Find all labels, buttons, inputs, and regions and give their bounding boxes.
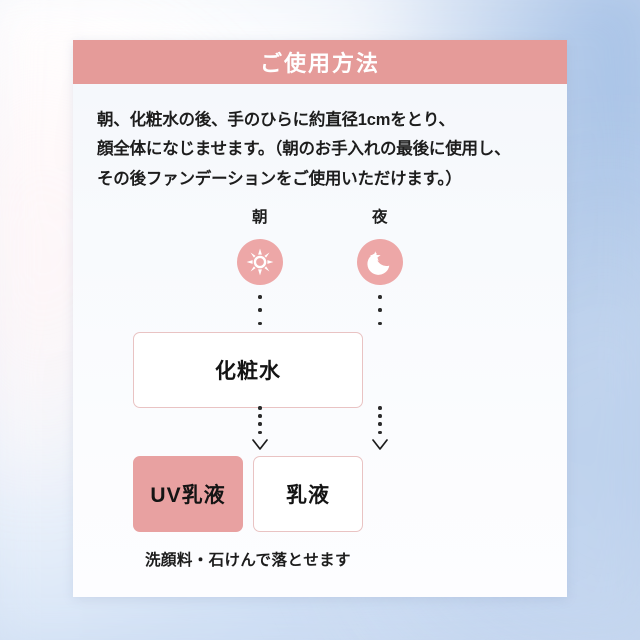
morning-icon-badge xyxy=(237,239,283,285)
connector-lotion-to-uv-milk xyxy=(258,406,262,434)
connector-dot xyxy=(378,431,382,435)
connector-lotion-to-milk xyxy=(378,406,382,434)
connector-dot xyxy=(258,295,262,299)
usage-description-line-3: その後ファンデーションをご使用いただけます。） xyxy=(97,165,543,194)
connector-dot xyxy=(258,308,262,312)
connector-dot xyxy=(258,414,262,418)
connector-dot xyxy=(258,322,262,326)
connector-dot xyxy=(378,422,382,426)
usage-description: 朝、化粧水の後、手のひらに約直径1cmをとり、 顔全体になじませます。（朝のお手… xyxy=(73,84,567,194)
routine-flow-diagram: 朝 xyxy=(73,210,567,590)
step-box-uv-milk: UV乳液 xyxy=(133,456,243,532)
removal-footnote: 洗顔料・石けんで落とせます xyxy=(73,548,423,570)
connector-dot xyxy=(378,295,382,299)
moon-star-icon xyxy=(365,247,395,277)
arrow-down-icon-left xyxy=(251,438,269,450)
usage-instruction-card: ご使用方法 朝、化粧水の後、手のひらに約直径1cmをとり、 顔全体になじませます… xyxy=(73,40,567,597)
flow-column-night: 夜 xyxy=(325,210,435,285)
connector-dot xyxy=(258,422,262,426)
sun-icon xyxy=(245,247,275,277)
arrow-down-icon-right xyxy=(371,438,389,450)
connector-dot xyxy=(258,406,262,410)
page-title: ご使用方法 xyxy=(260,46,380,78)
connector-dot xyxy=(378,406,382,410)
connector-dot xyxy=(378,322,382,326)
step-box-lotion: 化粧水 xyxy=(133,332,363,408)
connector-night-to-lotion xyxy=(378,295,382,325)
connector-morning-to-lotion xyxy=(258,295,262,325)
night-icon-badge xyxy=(357,239,403,285)
night-label: 夜 xyxy=(325,210,435,226)
screenshot-stage: ご使用方法 朝、化粧水の後、手のひらに約直径1cmをとり、 顔全体になじませます… xyxy=(0,0,640,640)
step-box-milk-label: 乳液 xyxy=(286,479,330,509)
flow-column-morning: 朝 xyxy=(205,210,315,285)
step-box-lotion-label: 化粧水 xyxy=(215,355,281,385)
connector-dot xyxy=(258,431,262,435)
step-box-milk: 乳液 xyxy=(253,456,363,532)
card-header: ご使用方法 xyxy=(73,40,567,84)
step-box-uv-milk-label: UV乳液 xyxy=(150,479,225,509)
usage-description-line-2: 顔全体になじませます。（朝のお手入れの最後に使用し、 xyxy=(97,135,543,164)
usage-description-line-1: 朝、化粧水の後、手のひらに約直径1cmをとり、 xyxy=(97,106,543,135)
connector-dot xyxy=(378,308,382,312)
connector-dot xyxy=(378,414,382,418)
morning-label: 朝 xyxy=(205,210,315,226)
